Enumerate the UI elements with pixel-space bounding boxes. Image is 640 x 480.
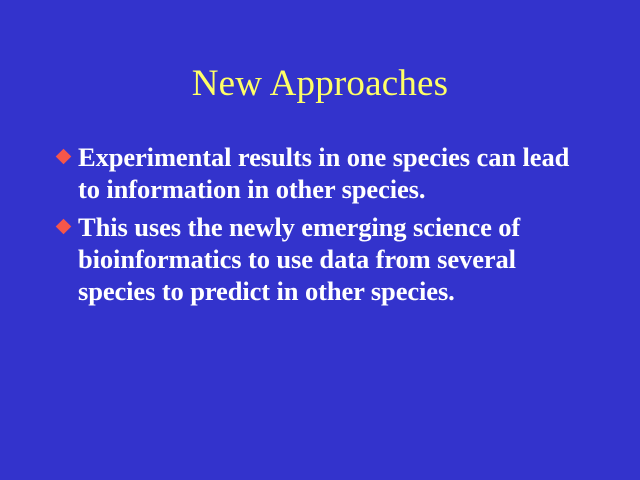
bullet-item-2: This uses the newly emerging science of … [56, 211, 596, 307]
bullet-item-2-text: This uses the newly emerging science of … [78, 211, 596, 307]
bullet-item-1: Experimental results in one species can … [56, 141, 596, 205]
bullet-item-1-text: Experimental results in one species can … [78, 141, 596, 205]
diamond-bullet-icon [56, 149, 72, 165]
slide-bullet-list: Experimental results in one species can … [56, 141, 596, 313]
diamond-bullet-icon [56, 219, 72, 235]
presentation-slide: New Approaches Experimental results in o… [0, 0, 640, 480]
slide-title: New Approaches [0, 63, 640, 105]
